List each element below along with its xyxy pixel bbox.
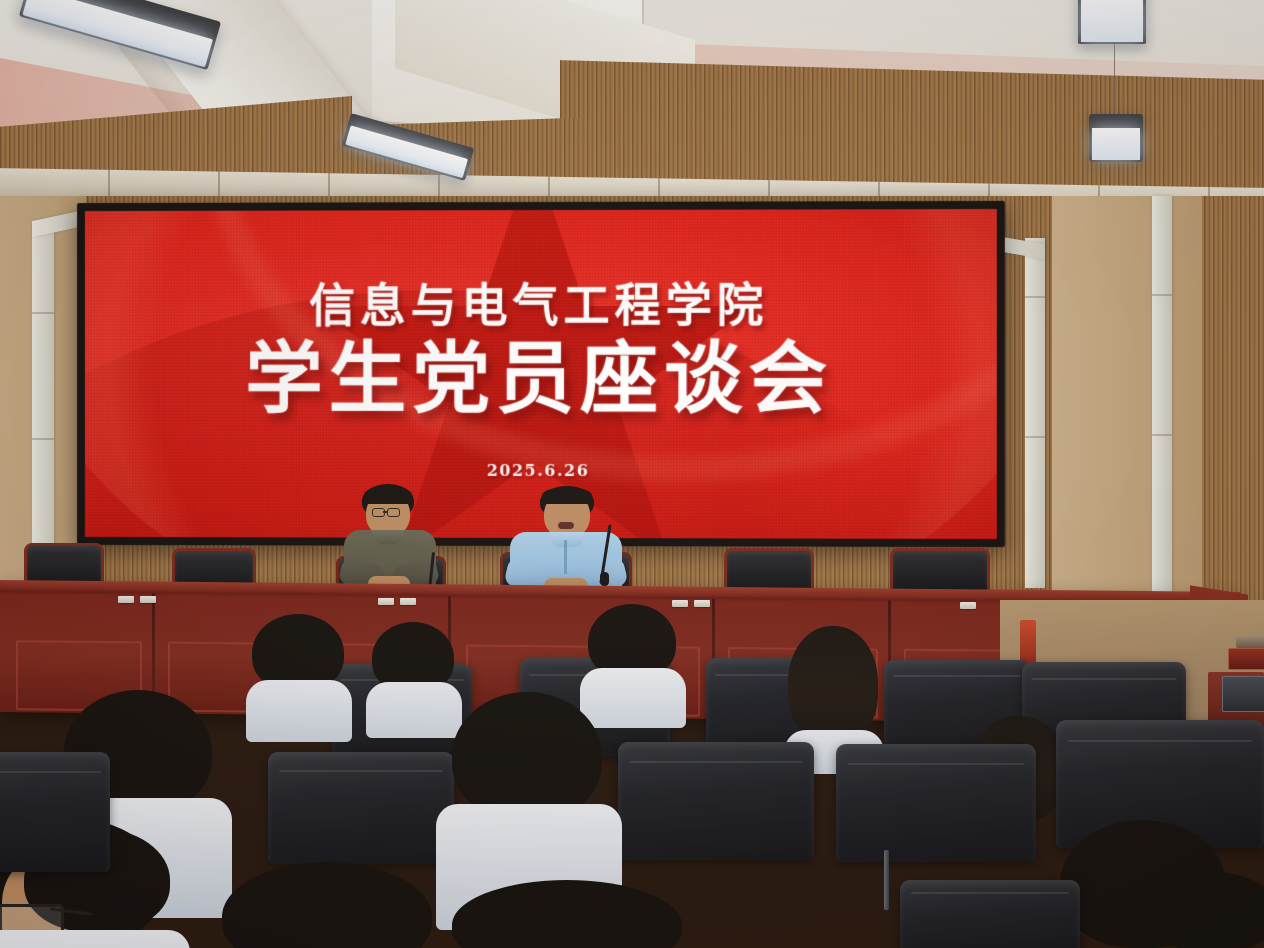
beige-wall-panel-right [1052, 196, 1202, 606]
foreground-chair-right [900, 880, 1080, 948]
speaker-left-collar [372, 530, 404, 544]
audience-head [1148, 872, 1264, 948]
light-diffuser [1081, 0, 1143, 42]
audience-shirt [246, 680, 352, 742]
speaker-left-hair-top [364, 486, 412, 504]
audience-shirt [366, 682, 462, 738]
pilaster-right-inner [1025, 238, 1045, 588]
speaker-right-hair-top [542, 487, 592, 504]
chair-leg-1 [884, 850, 889, 910]
name-card-3 [378, 598, 394, 605]
speaker-right [500, 486, 632, 596]
pendant-light-fixture-high [1078, 0, 1146, 44]
audience-head [222, 862, 432, 948]
audience-chair-r2-2 [618, 742, 814, 860]
speaker-left-glasses-right-lens [387, 508, 400, 517]
flight-case-top-lid [1236, 636, 1264, 648]
speaker-right-collar [550, 532, 584, 547]
flight-case-lower [1222, 676, 1264, 712]
name-card-7 [960, 602, 976, 609]
name-card-4 [400, 598, 416, 605]
speaker-left-glasses-left-lens [372, 508, 385, 517]
flight-case-upper [1228, 648, 1264, 670]
speaker-right-placket [564, 540, 567, 574]
audience-chair-r2-1 [268, 752, 454, 864]
name-card-5 [672, 600, 688, 607]
name-card-1 [118, 596, 134, 603]
pilaster-left [32, 228, 54, 578]
audience-chair-r2-3 [836, 744, 1036, 862]
speaker-left-glasses-bridge [383, 511, 388, 513]
pendant-light-fixture-low [1089, 114, 1143, 162]
screen-date: 2025.6.26 [487, 461, 590, 480]
microphone-head-right [600, 572, 609, 586]
audience-shirt [0, 930, 190, 948]
photo-scene: 信息与电气工程学院 学生党员座谈会 2025.6.26 [0, 0, 1264, 948]
screen-title-line2: 学生党员座谈会 [245, 338, 833, 423]
name-card-6 [694, 600, 710, 607]
audience-long-hair [788, 626, 878, 742]
screen-title-line1: 信息与电气工程学院 [309, 282, 768, 328]
foreground-chair-left [0, 752, 110, 872]
speaker-right-mouth [558, 522, 574, 529]
pilaster-right-outer [1152, 196, 1172, 606]
audience-shirt [580, 668, 686, 728]
audience-head [452, 692, 602, 820]
light-diffuser [1092, 128, 1140, 160]
name-card-2 [140, 596, 156, 603]
